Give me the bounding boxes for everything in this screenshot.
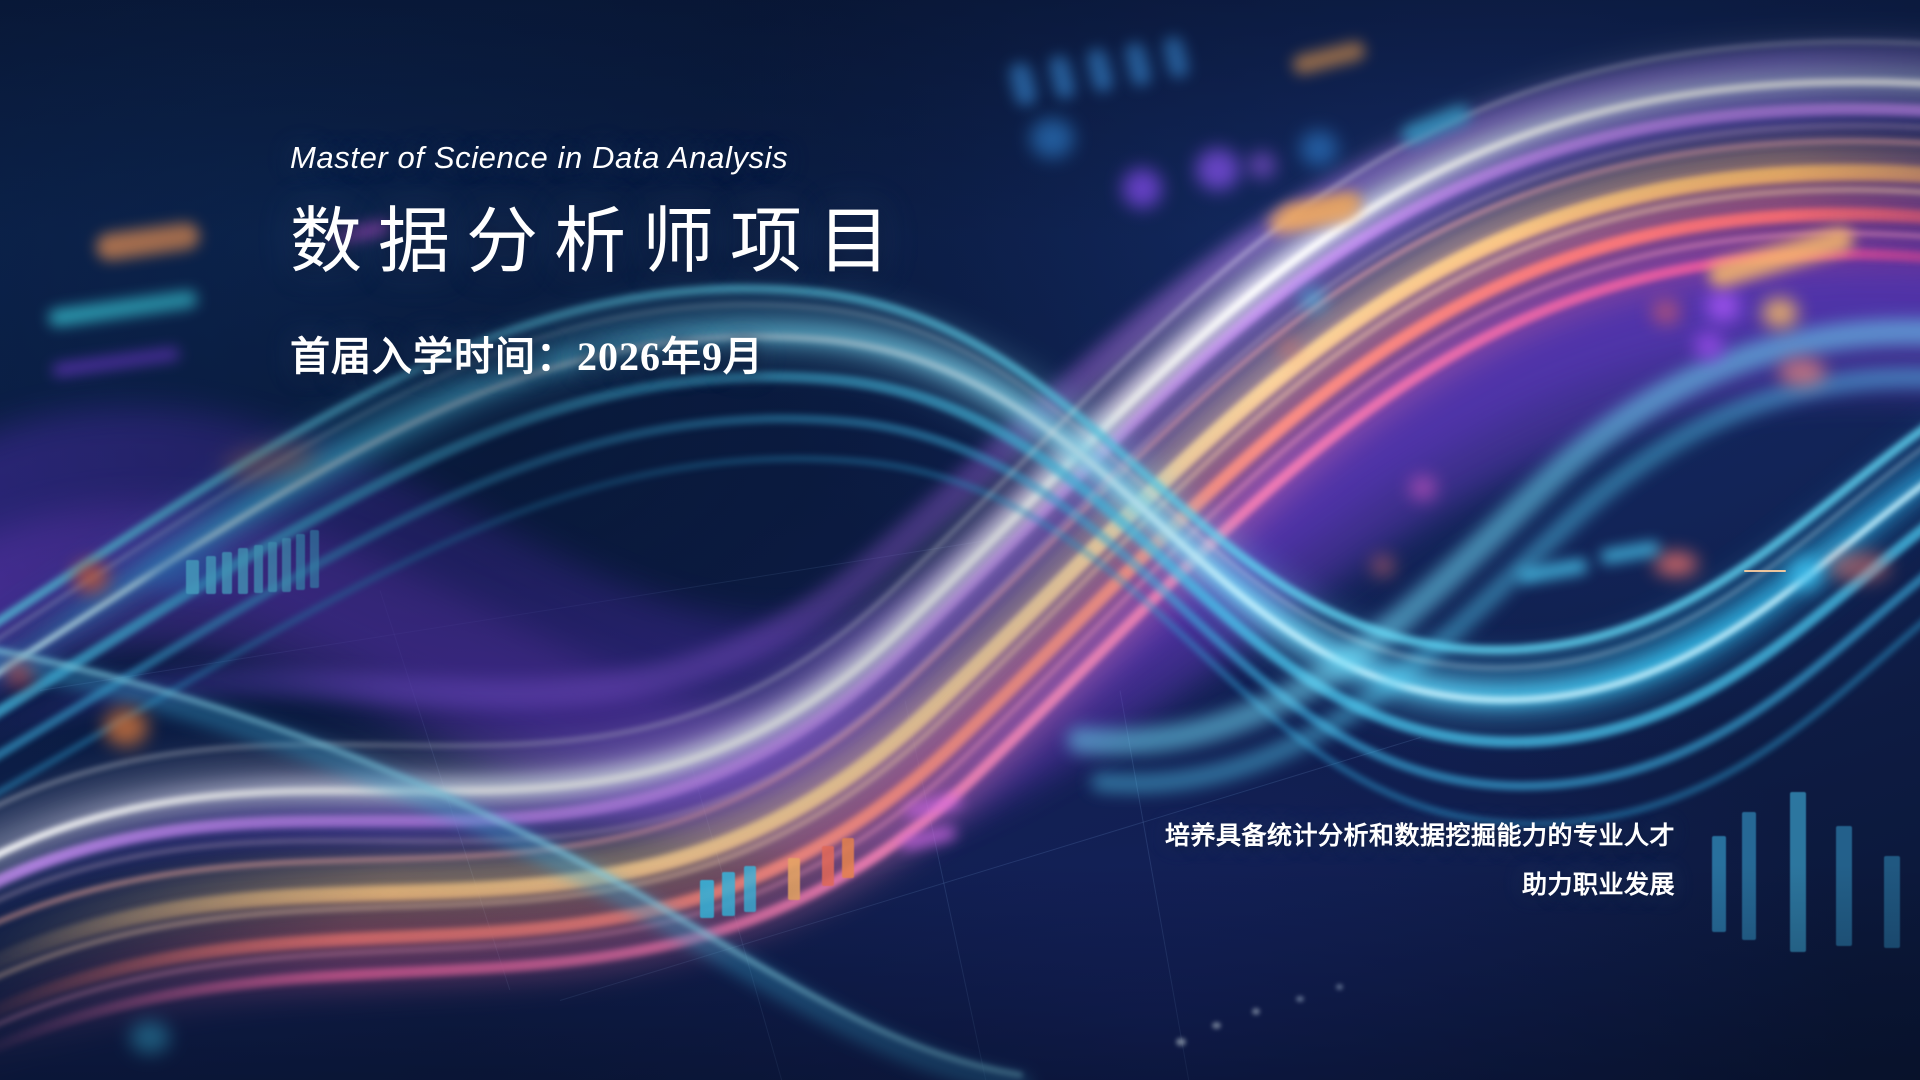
bokeh-dot-purple xyxy=(1248,152,1276,178)
data-bar xyxy=(1712,836,1726,932)
sparkle xyxy=(1176,1038,1186,1046)
bokeh-dot-cyan xyxy=(1790,558,1822,590)
data-bar xyxy=(310,530,319,588)
tagline-line-2: 助力职业发展 xyxy=(1165,861,1675,910)
data-bar xyxy=(722,872,735,916)
bokeh-dot-coral xyxy=(1280,340,1298,356)
sparkle xyxy=(1336,984,1343,990)
presentation-slide: Master of Science in Data Analysis 数据分析师… xyxy=(0,0,1920,1080)
tagline-line-1: 培养具备统计分析和数据挖掘能力的专业人才 xyxy=(1165,812,1675,861)
bokeh-dot-coral xyxy=(1654,552,1698,576)
page-title: 数据分析师项目 xyxy=(290,204,906,280)
bokeh-dot-cyan xyxy=(1302,290,1324,310)
bokeh-dot-red xyxy=(6,662,32,686)
bokeh-dot-purple xyxy=(1196,148,1240,190)
bokeh-dot-coral xyxy=(1778,358,1826,386)
bokeh-dot-gold xyxy=(1762,298,1798,328)
bokeh-dot-coral xyxy=(1828,552,1890,582)
data-bar xyxy=(206,556,216,594)
data-bar xyxy=(822,846,834,886)
data-bar xyxy=(186,560,199,594)
data-bar xyxy=(1790,792,1806,952)
title-group: Master of Science in Data Analysis 数据分析师… xyxy=(290,140,906,382)
bokeh-dot-cyan xyxy=(130,1022,170,1054)
data-bar xyxy=(744,866,756,912)
sparkle xyxy=(1212,1022,1221,1029)
data-bar xyxy=(282,538,291,592)
bokeh-dot-magenta xyxy=(1410,476,1436,500)
bokeh-dot-orange xyxy=(74,562,108,592)
tagline-group: 培养具备统计分析和数据挖掘能力的专业人才 助力职业发展 xyxy=(1165,812,1675,910)
decorative-background xyxy=(0,0,1920,1080)
data-bar xyxy=(268,542,277,592)
bokeh-dot-orange xyxy=(104,708,148,746)
bokeh-dot-blue xyxy=(1030,118,1074,158)
data-bar xyxy=(296,534,305,590)
bokeh-dot-coral xyxy=(1652,300,1680,324)
sparkle xyxy=(1252,1008,1260,1015)
data-bar xyxy=(254,545,263,593)
data-bar xyxy=(1836,826,1852,946)
data-bar xyxy=(222,552,232,594)
data-bar xyxy=(238,548,248,594)
data-bar xyxy=(1742,812,1756,940)
bokeh-dot-purple xyxy=(1706,290,1740,322)
bokeh-dot-purple xyxy=(1122,168,1162,208)
program-subtitle-english: Master of Science in Data Analysis xyxy=(290,140,906,176)
sparkle xyxy=(1296,996,1304,1002)
bokeh-pill-thin xyxy=(1744,570,1786,572)
enrollment-date: 首届入学时间：2026年9月 xyxy=(290,324,906,382)
data-bar xyxy=(842,838,854,878)
data-bar xyxy=(788,858,800,900)
data-bar xyxy=(1884,856,1900,948)
bokeh-dot-purple xyxy=(1694,332,1724,360)
data-bar xyxy=(700,880,714,918)
bokeh-dot-blue xyxy=(1300,130,1338,166)
bokeh-dot-coral xyxy=(1372,556,1394,576)
